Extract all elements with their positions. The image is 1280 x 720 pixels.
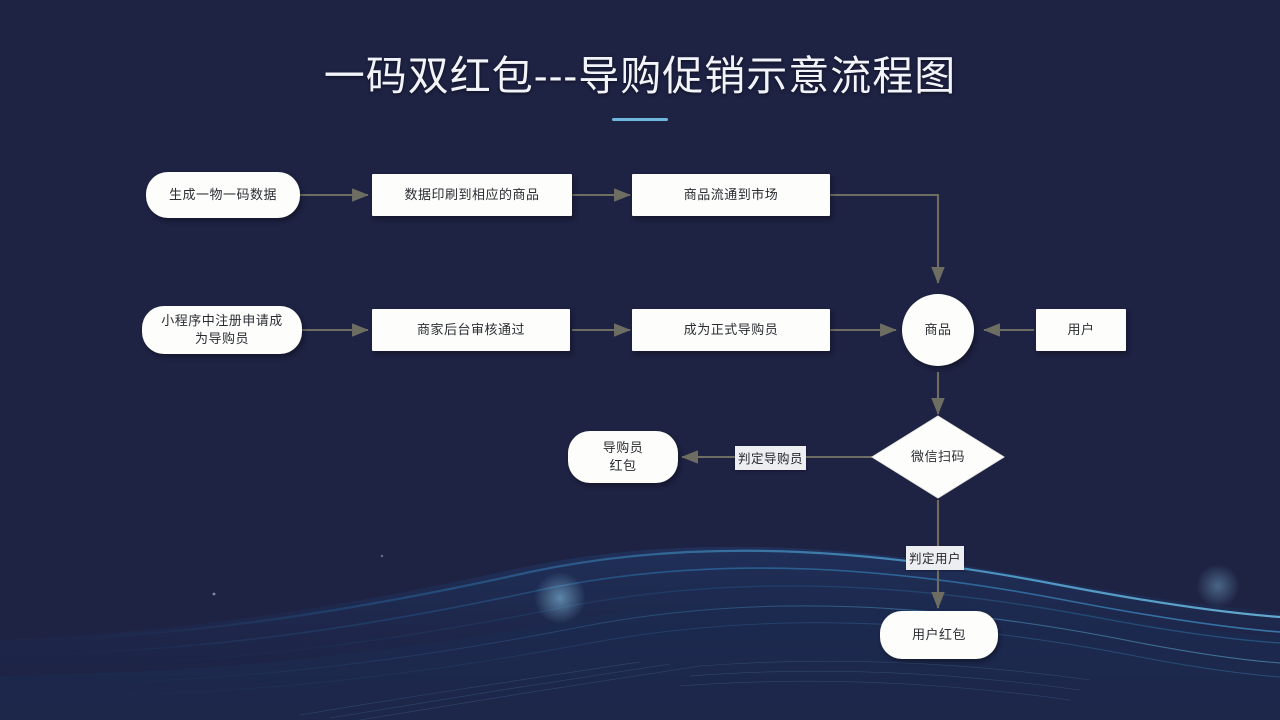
page-title: 一码双红包---导购促销示意流程图 [0, 42, 1280, 102]
node-register-guide-label-line2: 为导购员 [195, 330, 249, 348]
node-guide-redpacket[interactable]: 导购员 红包 [568, 431, 678, 483]
node-guide-redpacket-label-line2: 红包 [609, 457, 636, 475]
edge-label-judge-guide: 判定导购员 [735, 446, 806, 470]
node-merchant-review[interactable]: 商家后台审核通过 [372, 309, 570, 351]
node-register-guide[interactable]: 小程序中注册申请成 为导购员 [142, 306, 302, 354]
title-underline-accent [612, 118, 668, 121]
node-print-to-goods[interactable]: 数据印刷到相应的商品 [372, 174, 572, 216]
edge-market-to-product [830, 195, 938, 283]
node-merchant-review-label: 商家后台审核通过 [417, 321, 525, 339]
node-product-label: 商品 [924, 321, 951, 339]
node-user-label: 用户 [1067, 321, 1094, 339]
node-register-guide-label-line1: 小程序中注册申请成 [161, 312, 283, 330]
wave-decoration [0, 490, 1280, 720]
edge-label-judge-user: 判定用户 [906, 546, 964, 570]
node-guide-redpacket-label-line1: 导购员 [603, 439, 644, 457]
node-wechat-scan[interactable]: 微信扫码 [870, 414, 1006, 500]
node-generate-data-label: 生成一物一码数据 [169, 186, 277, 204]
node-user-redpacket[interactable]: 用户红包 [880, 611, 998, 659]
node-become-guide-label: 成为正式导购员 [684, 321, 779, 339]
node-goods-to-market-label: 商品流通到市场 [684, 186, 779, 204]
node-become-guide[interactable]: 成为正式导购员 [632, 309, 830, 351]
node-product[interactable]: 商品 [902, 294, 974, 366]
node-generate-data[interactable]: 生成一物一码数据 [146, 172, 300, 218]
node-wechat-scan-label: 微信扫码 [911, 448, 965, 466]
node-user[interactable]: 用户 [1036, 309, 1126, 351]
node-goods-to-market[interactable]: 商品流通到市场 [632, 174, 830, 216]
node-print-to-goods-label: 数据印刷到相应的商品 [404, 186, 539, 204]
slide-canvas: 一码双红包---导购促销示意流程图 [0, 0, 1280, 720]
title-block: 一码双红包---导购促销示意流程图 [0, 42, 1280, 121]
node-user-redpacket-label: 用户红包 [912, 626, 966, 644]
